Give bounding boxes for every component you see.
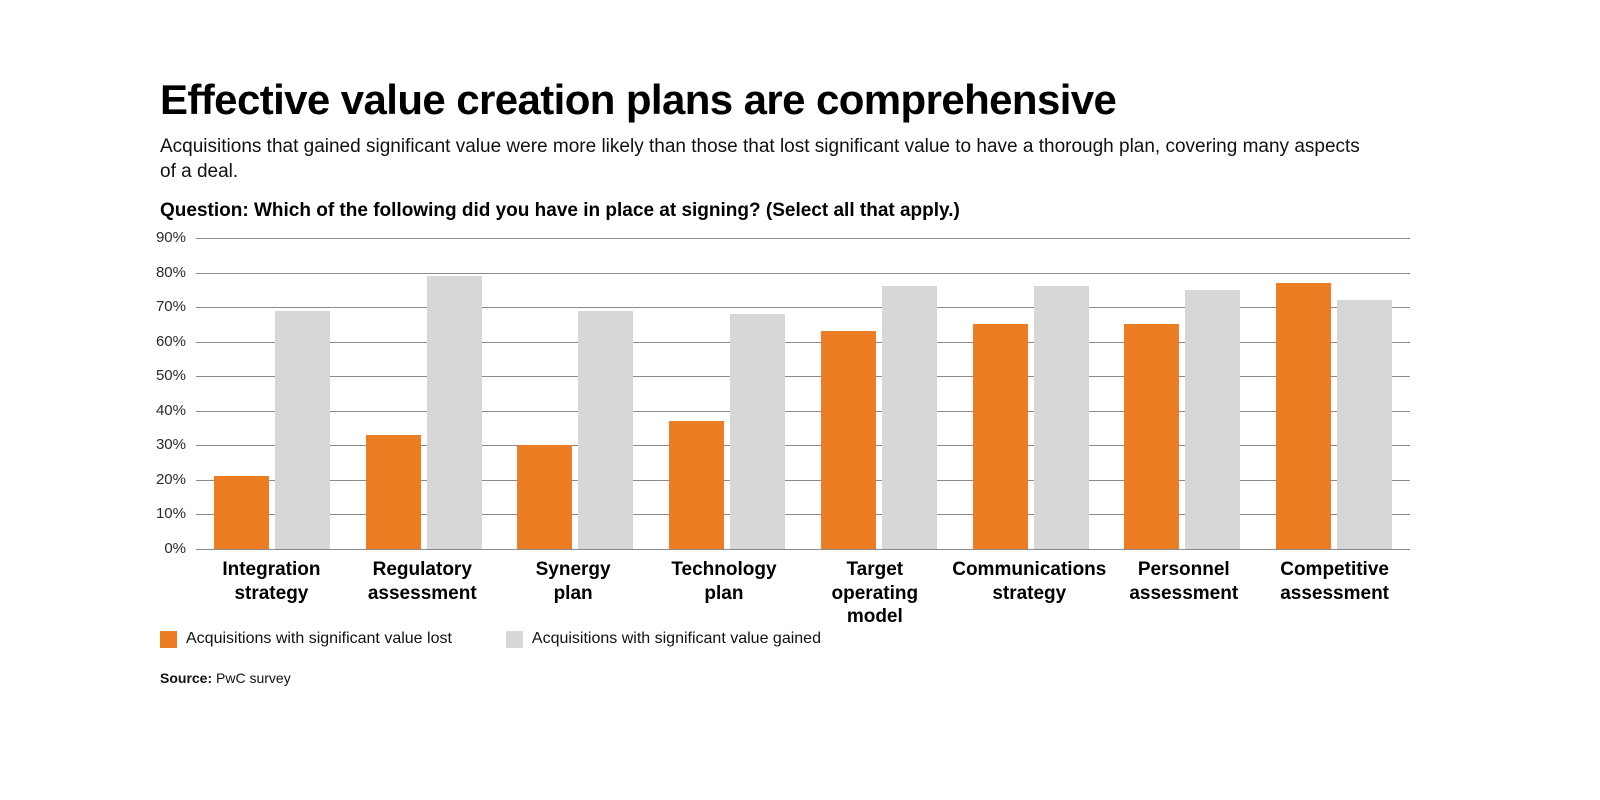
x-axis-category-label: Regulatoryassessment: [347, 558, 498, 629]
bar-gained[interactable]: [882, 286, 937, 549]
legend-item-gained[interactable]: Acquisitions with significant value gain…: [506, 630, 821, 648]
y-axis-tick-label: 20%: [126, 471, 186, 488]
bar-gained[interactable]: [1185, 290, 1240, 549]
legend-item-lost[interactable]: Acquisitions with significant value lost: [160, 630, 452, 648]
bar-gained[interactable]: [578, 311, 633, 549]
bar-group: [500, 238, 652, 549]
source-value: PwC survey: [216, 670, 291, 686]
bar-lost[interactable]: [517, 445, 572, 549]
chart-source: Source: PwC survey: [160, 670, 291, 686]
bar-group: [1258, 238, 1410, 549]
chart-legend: Acquisitions with significant value lost…: [160, 630, 875, 648]
y-axis-tick-label: 50%: [126, 367, 186, 384]
y-axis-tick-label: 40%: [126, 402, 186, 419]
x-axis-line: [196, 549, 1410, 550]
chart-plot-area: [196, 238, 1410, 549]
legend-label: Acquisitions with significant value lost: [186, 630, 452, 648]
chart-plot-wrapper: 0%10%20%30%40%50%60%70%80%90%: [160, 228, 1410, 558]
y-axis-tick-label: 90%: [126, 229, 186, 246]
bar-lost[interactable]: [973, 324, 1028, 549]
y-axis-tick-label: 30%: [126, 436, 186, 453]
bar-group: [955, 238, 1107, 549]
page-title: Effective value creation plans are compr…: [160, 78, 1420, 122]
bar-group: [196, 238, 348, 549]
source-label: Source:: [160, 670, 212, 686]
bar-lost[interactable]: [821, 331, 876, 549]
x-axis-category-label: Technologyplan: [649, 558, 800, 629]
bar-group: [348, 238, 500, 549]
chart-subtitle: Acquisitions that gained significant val…: [160, 134, 1375, 184]
bar-gained[interactable]: [427, 276, 482, 549]
bar-group: [1107, 238, 1259, 549]
x-axis-category-label: Personnelassessment: [1108, 558, 1259, 629]
y-axis-tick-label: 70%: [126, 298, 186, 315]
y-axis-tick-label: 60%: [126, 333, 186, 350]
bar-gained[interactable]: [275, 311, 330, 549]
bar-groups: [196, 238, 1410, 549]
bar-lost[interactable]: [1276, 283, 1331, 549]
chart-page: Effective value creation plans are compr…: [0, 0, 1600, 800]
x-axis-category-label: Competitiveassessment: [1259, 558, 1410, 629]
x-axis-category-label: Synergyplan: [498, 558, 649, 629]
bar-lost[interactable]: [214, 476, 269, 549]
bar-group: [803, 238, 955, 549]
chart-question: Question: Which of the following did you…: [160, 200, 960, 222]
y-axis-tick-label: 10%: [126, 505, 186, 522]
x-axis-category-label: Targetoperatingmodel: [799, 558, 950, 629]
bar-gained[interactable]: [1337, 300, 1392, 549]
x-axis-categories: IntegrationstrategyRegulatoryassessmentS…: [196, 558, 1410, 629]
bar-gained[interactable]: [1034, 286, 1089, 549]
bar-group: [651, 238, 803, 549]
y-axis-tick-label: 0%: [126, 540, 186, 557]
bar-gained[interactable]: [730, 314, 785, 549]
x-axis-category-label: Integrationstrategy: [196, 558, 347, 629]
chart-header: Effective value creation plans are compr…: [160, 78, 1420, 184]
legend-label: Acquisitions with significant value gain…: [532, 630, 821, 648]
legend-swatch-icon: [506, 631, 523, 648]
bar-lost[interactable]: [669, 421, 724, 549]
x-axis-category-label: Communicationsstrategy: [950, 558, 1108, 629]
bar-lost[interactable]: [1124, 324, 1179, 549]
y-axis-tick-label: 80%: [126, 264, 186, 281]
bar-lost[interactable]: [366, 435, 421, 549]
legend-swatch-icon: [160, 631, 177, 648]
